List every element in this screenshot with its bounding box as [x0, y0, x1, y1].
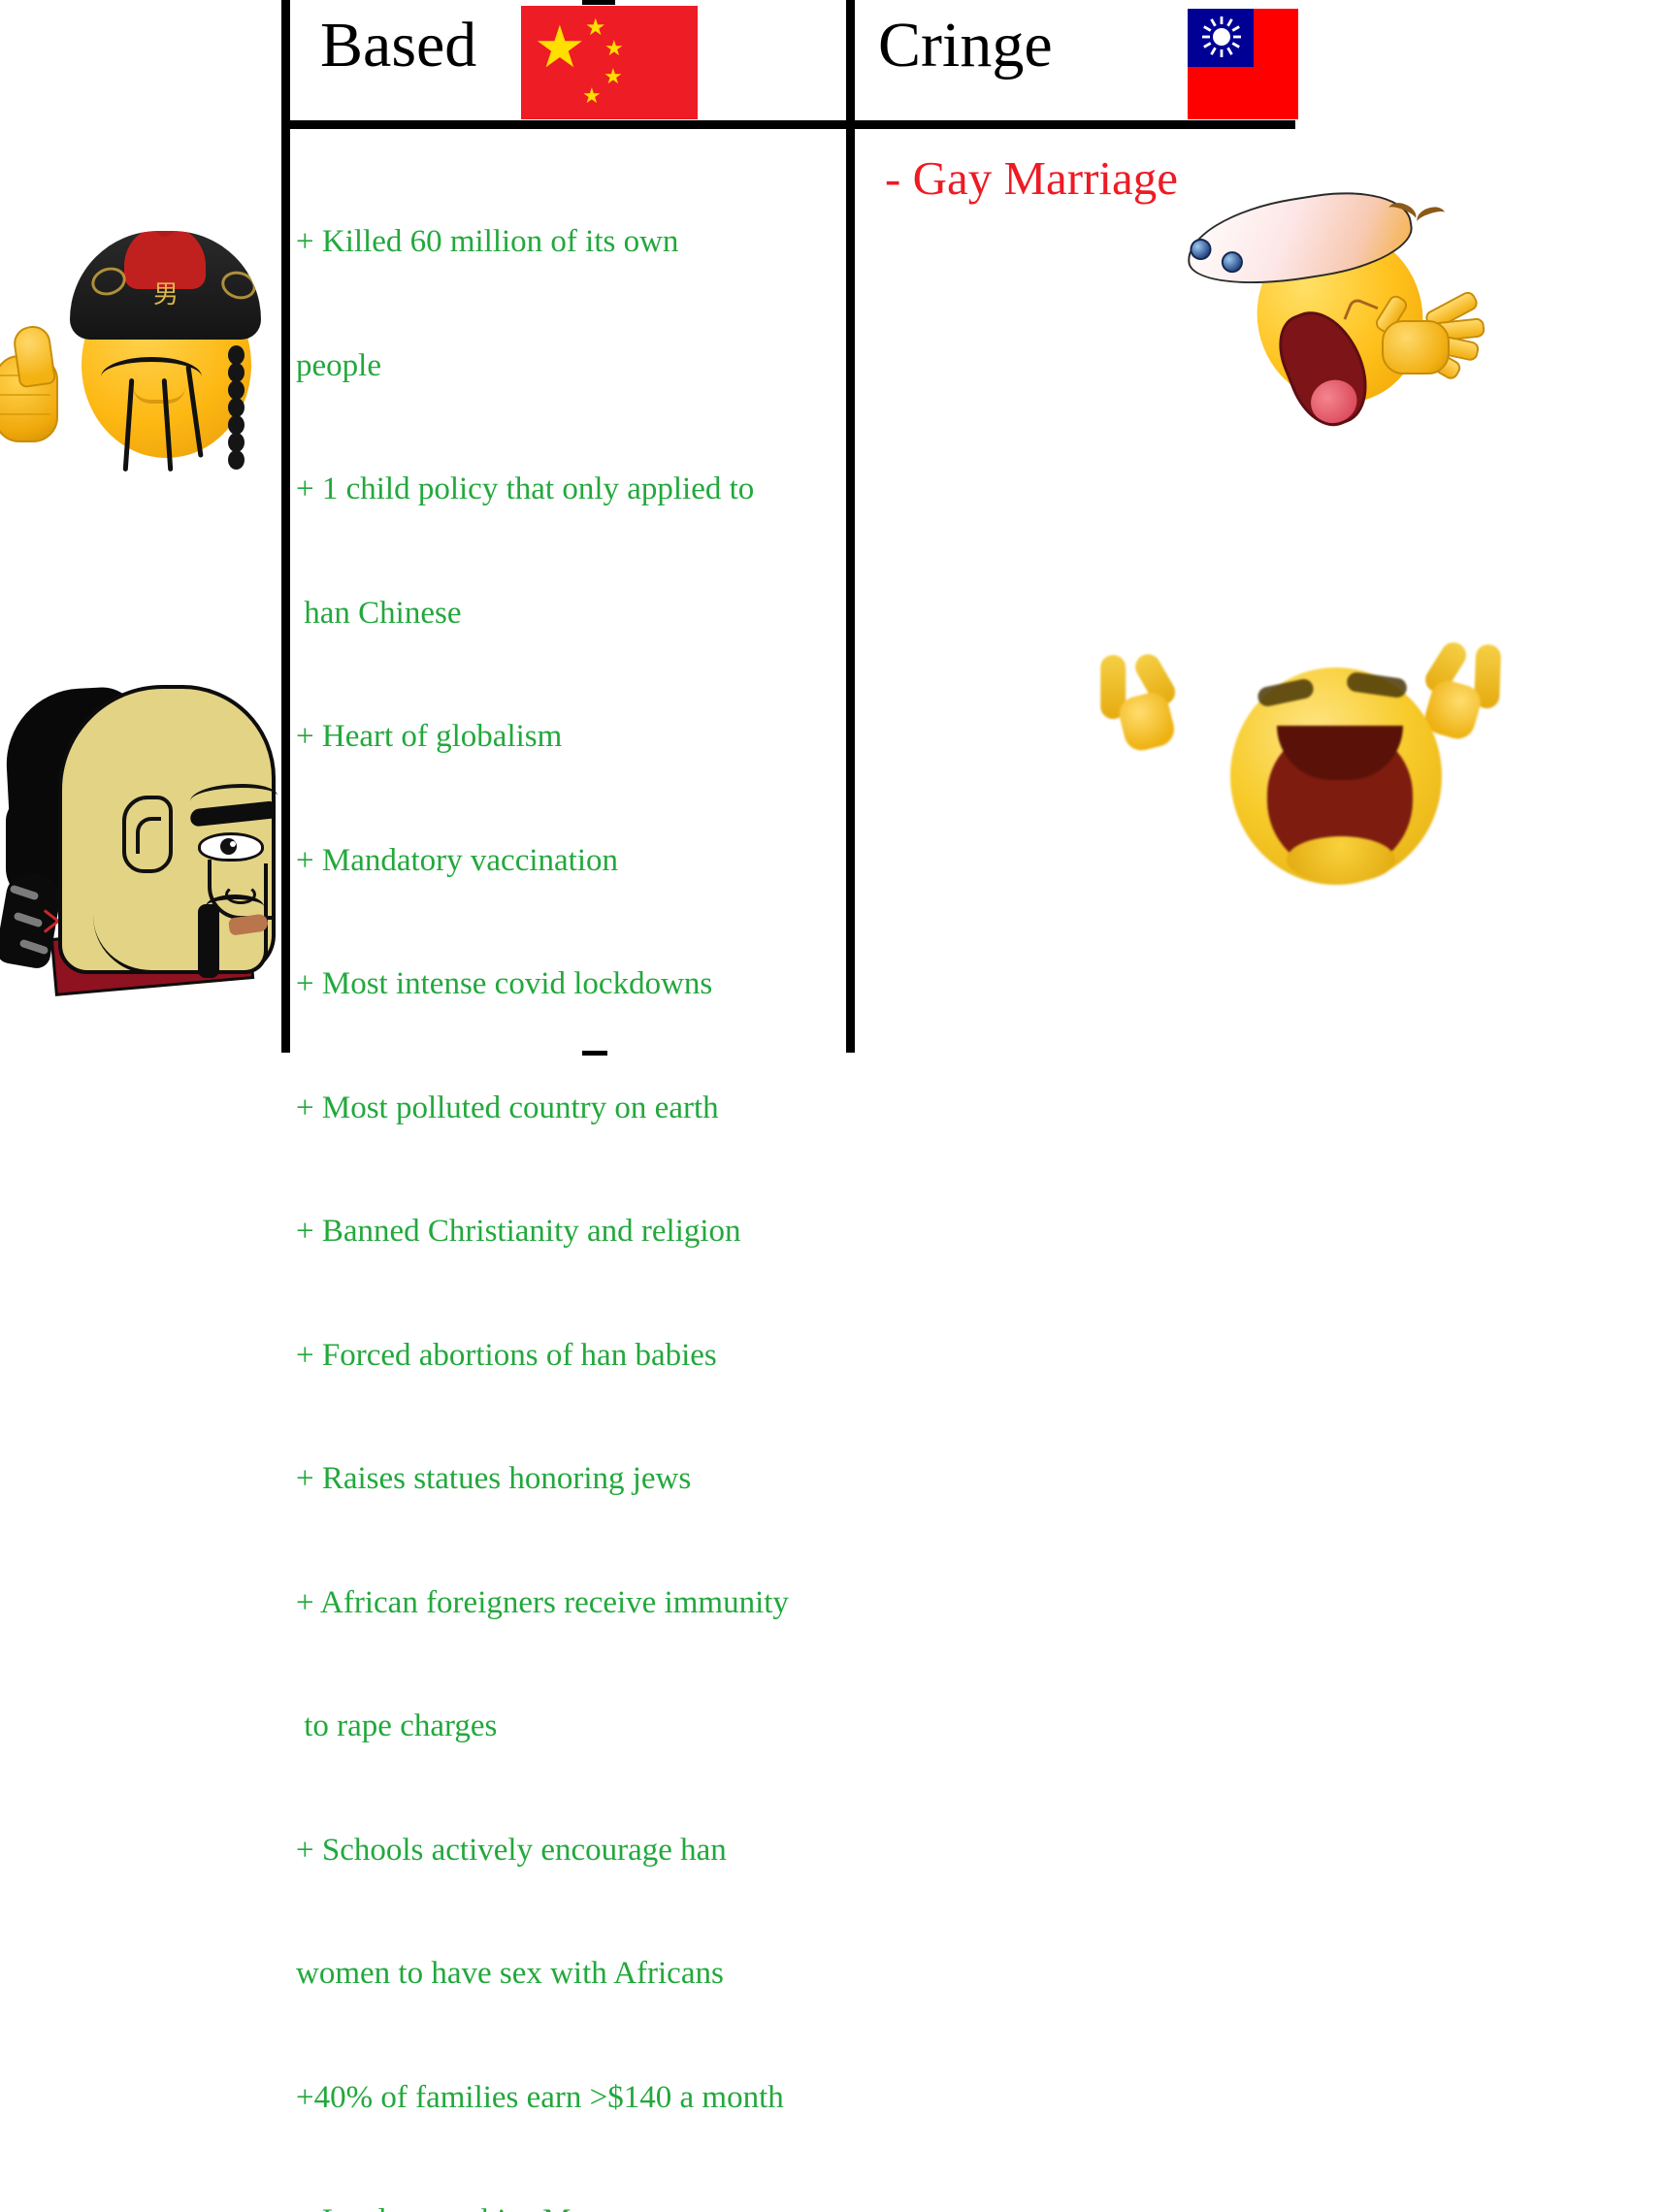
eye-glint [230, 841, 236, 847]
emoji-chin [1287, 836, 1395, 883]
emoji-eyebrow-right [1415, 204, 1449, 231]
taiwan-flag-icon [1188, 9, 1298, 119]
hat-swirl-left [88, 263, 130, 300]
based-line: han Chinese [296, 593, 854, 634]
hat-swirl-right [218, 268, 259, 304]
screaming-emoji-icon [1087, 611, 1504, 893]
wojak-goatee [198, 904, 219, 978]
based-line: + Heart of globalism [296, 716, 854, 758]
braid-segment [228, 380, 245, 400]
wojak-eye [198, 832, 264, 862]
braid-segment [228, 398, 245, 417]
emoji-queue-braid [228, 345, 245, 470]
based-line: + 1 child policy that only applied to [296, 469, 854, 510]
laughing-emoji-hand-icon [1366, 291, 1483, 384]
table-header-rule [281, 120, 1295, 129]
based-line: + Banned Christianity and religion [296, 1211, 854, 1252]
based-line: + Mandatory vaccination [296, 840, 854, 882]
based-header-cell: Based [320, 14, 476, 78]
knuckle-line [0, 413, 50, 415]
cringe-list: - Gay Marriage [885, 150, 1178, 207]
based-line: + Forced abortions of han babies [296, 1335, 854, 1377]
wojak-ear [122, 796, 173, 873]
china-flag-small-star-2: ★ [604, 38, 624, 59]
china-flag-large-star: ★ [534, 18, 586, 77]
emoji-eye-right [1220, 250, 1244, 275]
based-line: people [296, 345, 854, 387]
braid-segment [228, 363, 245, 382]
cringe-line: - Gay Marriage [885, 150, 1178, 207]
based-line: + Killed 60 million of its own [296, 221, 854, 263]
meme-canvas: Based Cringe ★ ★ ★ ★ ★ [0, 0, 1665, 1106]
braid-segment [228, 433, 245, 452]
braid-segment [228, 345, 245, 365]
based-line: + Schools actively encourage han [296, 1830, 854, 1871]
based-line: + Leader worships Marx [296, 2200, 854, 2212]
qing-dynasty-wojak-icon: ★ ★ ★ [0, 679, 272, 970]
based-line: women to have sex with Africans [296, 1953, 854, 1995]
based-line: + Most polluted country on earth [296, 1088, 854, 1129]
based-line: +40% of families earn >$140 a month [296, 2077, 854, 2119]
based-line: + Raises statues honoring jews [296, 1458, 854, 1500]
based-list: + Killed 60 million of its own people + … [296, 139, 854, 2212]
emoji-eye-left [1189, 237, 1213, 261]
cringe-header-label: Cringe [878, 14, 1053, 78]
emoji-tongue [1304, 373, 1363, 430]
taiwan-flag-canton [1188, 9, 1254, 67]
based-header-label: Based [320, 14, 476, 78]
ear-inner [136, 817, 161, 854]
taiwan-flag-sun-icon [1202, 16, 1241, 57]
based-line: to rape charges [296, 1706, 854, 1747]
based-line: + Most intense covid lockdowns [296, 963, 854, 1005]
braid-segment [228, 415, 245, 435]
emoji-qing-hat: 男 [70, 231, 261, 340]
hat-chinese-character: 男 [149, 279, 182, 310]
china-flag-small-star-3: ★ [604, 66, 623, 87]
china-flag-small-star-1: ★ [585, 16, 606, 40]
braid-segment [228, 450, 245, 470]
china-flag-icon: ★ ★ ★ ★ ★ [521, 6, 698, 119]
hand-palm [1382, 320, 1450, 374]
based-line: + African foreigners receive immunity [296, 1582, 854, 1624]
table-left-border [281, 0, 290, 1053]
screaming-emoji-hand-left [1087, 635, 1199, 763]
china-flag-small-star-4: ★ [582, 85, 602, 107]
thumb [12, 324, 56, 389]
knuckle-line [0, 394, 50, 396]
emoji-thumbs-up-hand [0, 326, 62, 442]
table-top-tick [582, 0, 615, 5]
cringe-header-cell: Cringe [878, 14, 1053, 78]
chinese-emoji-thumbs-up-icon: 男 [0, 221, 274, 503]
